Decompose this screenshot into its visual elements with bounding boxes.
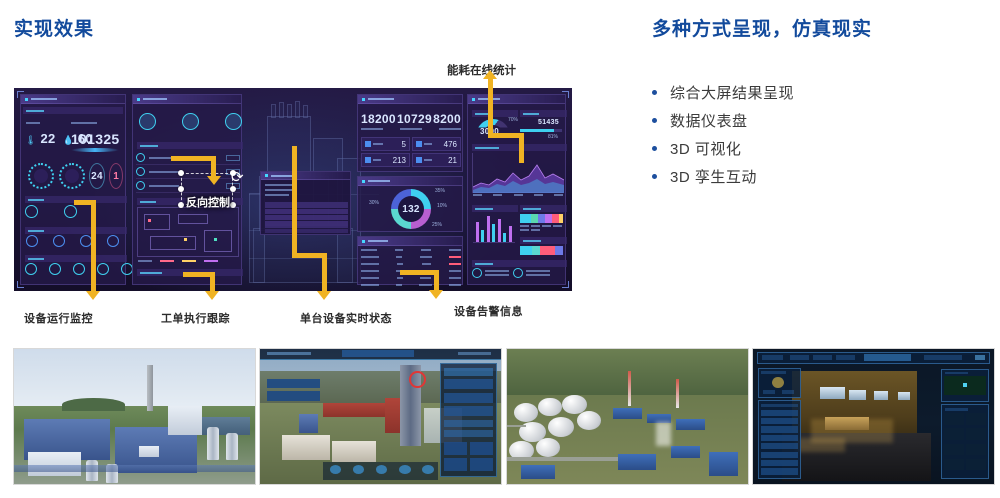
annotation-label-1: 设备运行监控 [24,310,93,326]
kpi-cell[interactable]: 213 [361,153,410,167]
reverse-control-label: 反向控制 [186,194,230,210]
subsection-device-status [472,260,567,267]
page-title-right: 多种方式呈现，仿真现实 [652,14,872,41]
progress-track [520,129,562,132]
selection-handle[interactable] [178,202,184,208]
table-header-row [361,249,461,254]
subsection-gauge [472,110,518,117]
counter-fault: 1 [109,163,123,189]
status-group[interactable] [513,268,550,278]
status-dot-icon [25,98,28,101]
donut-slice-label: 25% [432,222,442,228]
annotation-arrow-head [205,291,219,300]
annotation-arrow-head [483,70,497,79]
annotation-label-4: 设备告警信息 [454,303,523,319]
equipment-status-tiles[interactable] [139,113,242,130]
donut-center-value: 132 [402,204,420,215]
metric-value: 18200 [361,112,396,126]
temp-group [26,122,40,128]
panel-header [133,95,241,104]
pressure-value: 101325 [71,131,120,147]
device-icon [136,181,145,190]
annotation-arrow-head [429,290,443,299]
cell-icon [365,157,371,163]
status-dot-icon [265,174,268,177]
donut-slice-label: 35% [435,188,445,194]
gauge-icon[interactable] [25,205,38,218]
equipment-tile-icon[interactable] [182,113,199,130]
bullet-dot-icon [652,118,657,123]
annotation-arrow-head [207,176,221,185]
twin-top-nav[interactable] [757,352,991,364]
panel-title-glyph [143,98,167,100]
status-dot-icon [362,98,365,101]
annotation-energy-label: 能耗在线统计 [447,62,516,78]
twin-left-menu[interactable] [267,379,320,403]
counter-alarm: 24 [89,163,105,189]
panel-title-glyph [31,98,57,100]
production-metrics: 18200 10729 8200 [361,112,461,126]
legend-row [138,260,218,262]
annotation-arrow-line [171,156,216,161]
fault-count-value: 1 [113,171,119,182]
area-chart-axis [473,194,563,196]
selection-handle[interactable] [178,186,184,192]
list-item: 数据仪表盘 [652,106,992,134]
annotation-label-3: 单台设备实时状态 [300,310,392,326]
table[interactable] [361,249,461,289]
bullet-label: 3D 孪生互动 [670,166,757,187]
subsection-environment [23,107,123,114]
annotation-arrow-line [488,78,493,138]
panel-alarm-table[interactable] [357,236,463,285]
selection-handle[interactable] [230,202,236,208]
bullet-dot-icon [652,174,657,179]
kpi-cell[interactable]: 21 [412,153,461,167]
status-group[interactable] [472,268,509,278]
panel-title-glyph [368,98,394,100]
temperature-value: 22 [40,131,55,146]
donut-slice-label: 30% [369,200,379,206]
total-value: 51435 [538,119,559,126]
subsection-bar-chart [472,205,518,212]
panel-ai-detection[interactable] [260,171,351,235]
annotation-arrow-line [322,253,327,293]
subsection-total [520,110,567,117]
icon-row-public[interactable] [25,205,77,218]
work-order-donut-chart: 132 [391,189,431,229]
annotation-label-2: 工单执行跟踪 [161,310,230,326]
cargo-stack [825,417,868,431]
card-meta [265,184,295,196]
status-dot-icon [362,240,365,243]
table-row[interactable] [361,263,461,268]
device-name [149,171,179,173]
region-bar-chart [473,215,515,243]
metric-value: 8200 [433,112,461,126]
annotation-arrow-head [86,291,100,300]
status-dot-icon [137,98,140,101]
icon-row-fire[interactable] [26,235,119,247]
screenshot-indoor-twin-night-view[interactable] [752,348,995,485]
extinguisher-icon[interactable] [107,235,119,247]
table-row[interactable] [361,284,461,289]
pressure-underline [71,148,119,152]
screenshot-refinery-aerial-3d[interactable] [506,348,749,485]
subsection-env-equipment [137,142,243,149]
refresh-icon[interactable]: ⟳ [231,168,244,186]
page-title-left: 实现效果 [14,14,94,41]
card-table-b[interactable] [265,224,348,233]
donut-slice-label: 10% [437,203,447,209]
annotation-arrow-line [211,156,216,178]
status-badge [226,155,240,161]
chimney [676,379,679,409]
progress-pct: 81% [548,134,558,140]
panel-title-glyph [368,180,390,182]
bullet-dot-icon [652,146,657,151]
panel-header [21,95,125,104]
ring-gauge-right [59,163,85,189]
cell-icon [365,141,371,147]
feature-bullet-list: 综合大屏结果呈现 数据仪表盘 3D 可视化 3D 孪生互动 [652,78,992,190]
screenshot-strip [0,348,1000,488]
ring-gauge-left [28,163,54,189]
status-dot-icon [362,180,365,183]
list-item: 3D 孪生互动 [652,162,992,190]
alarm-count-value: 24 [91,171,103,182]
device-status-grid[interactable] [472,268,563,278]
bullet-label: 综合大屏结果呈现 [670,82,794,103]
annotation-arrow-line [519,133,524,163]
twin-right-panel[interactable] [440,363,498,478]
annotation-arrow-head [317,291,331,300]
metric-value: 10729 [397,112,432,126]
floor-plan-diagram[interactable] [137,207,239,257]
cell-icon [416,157,422,163]
bullet-label: 数据仪表盘 [670,110,748,131]
subsection-security [25,255,127,262]
twin-left-panel-top[interactable] [758,368,801,398]
equipment-tile-icon[interactable] [225,113,242,130]
twin-right-map-panel[interactable] [941,369,989,401]
table-row[interactable] [361,256,461,261]
chimney [628,371,631,406]
selection-handle[interactable] [178,170,184,176]
list-item: 综合大屏结果呈现 [652,78,992,106]
screenshot-plant-3d-overview[interactable] [13,348,256,485]
fire-icon[interactable] [26,235,38,247]
device-name [149,185,179,187]
card-table-a[interactable] [265,202,348,226]
lock-icon[interactable] [49,263,61,275]
kpi-value: 213 [393,156,406,165]
twin-right-camera-grid[interactable] [941,404,989,478]
bullet-label: 3D 可视化 [670,138,741,159]
screenshot-digital-twin-cement-plant[interactable] [259,348,502,485]
panel-header [358,237,462,246]
panel-energy-analysis[interactable]: 3000 70% 51435 81% [467,94,566,285]
stack-legend-a [520,225,563,231]
alarm-icon[interactable] [97,263,109,275]
thermometer-icon: 🌡 [25,135,36,146]
twin-top-bar[interactable] [260,349,501,360]
camera-icon[interactable] [25,263,37,275]
smoke-icon[interactable] [53,235,65,247]
stacked-bar-b [520,246,563,255]
kpi-value: 476 [444,140,457,149]
panel-header [358,95,462,104]
door-icon[interactable] [73,263,85,275]
equipment-tile-icon[interactable] [139,113,156,130]
bullet-dot-icon [652,90,657,95]
pressure-caption [71,122,97,124]
panel-production-data[interactable]: 18200 10729 8200 5 [357,94,463,172]
subsection-fire [25,227,127,234]
device-icon [513,268,523,278]
stacked-bar-a [520,214,563,223]
kpi-value: 21 [448,156,457,165]
annotation-arrow-line [210,272,215,293]
table-row[interactable] [361,277,461,282]
device-icon [136,153,145,162]
device-icon [136,167,145,176]
kpi-cell[interactable]: 476 [412,137,461,151]
annotation-arrow-line [91,200,96,293]
cell-icon [416,141,422,147]
subsection-stack-a [520,205,567,212]
annotation-arrow-line [434,270,439,292]
slide-page: 实现效果 多种方式呈现，仿真现实 综合大屏结果呈现 数据仪表盘 3D 可视化 3… [0,0,1000,498]
status-dot-icon [472,98,475,101]
production-metric-captions [361,128,461,130]
panel-header [468,95,565,104]
icon-row-security[interactable] [25,263,133,275]
annotation-arrow-line [292,146,297,257]
subsection-stack-b [520,237,567,244]
meter-icon[interactable] [64,205,77,218]
selection-handle[interactable] [230,186,236,192]
progress-fill [520,129,554,132]
list-item: 3D 可视化 [652,134,992,162]
panel-header [358,177,462,186]
steam-plume [656,422,670,446]
twin-left-panel-list[interactable] [758,400,801,478]
kpi-value: 5 [402,140,406,149]
kpi-cell[interactable]: 5 [361,137,410,151]
panel-device-overview[interactable]: 🌡 22 💧 60 101325 24 [20,94,126,285]
device-icon [472,268,482,278]
twin-bottom-toolbar[interactable] [323,462,439,480]
panel-title-glyph [271,175,293,177]
gauge-pct: 70% [508,117,518,123]
production-cells[interactable]: 5 476 213 [361,137,461,167]
panel-header [261,172,350,180]
energy-area-chart [472,153,563,193]
panel-title-glyph [368,240,388,242]
